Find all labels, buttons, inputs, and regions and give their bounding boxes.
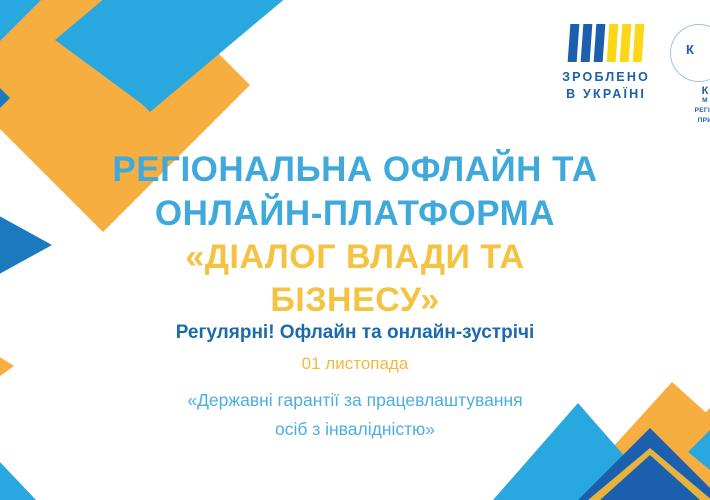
poster-date: 01 листопада [0, 354, 710, 374]
poster-topic-line1: «Державні гарантії за працевлаштування [0, 386, 710, 415]
poster-accent-line1: «ДІАЛОГ ВЛАДИ ТА [0, 236, 710, 279]
logo-bar-blue-3 [594, 24, 606, 62]
poster-title-line1: РЕГІОНАЛЬНА ОФЛАЙН ТА [0, 148, 710, 192]
partner-logo-mark: К [686, 42, 694, 57]
logo-bar-yellow-1 [607, 24, 619, 62]
partner-logo-line3: РЕГІО [666, 106, 710, 116]
made-in-ukraine-line1: ЗРОБЛЕНО [562, 69, 650, 86]
logo-bar-yellow-2 [620, 24, 632, 62]
partner-logo-line1: К [666, 86, 710, 96]
logo-bar-yellow-3 [633, 24, 645, 62]
logo-bar-blue-1 [568, 24, 580, 62]
made-in-ukraine-line2: В УКРАЇНІ [566, 86, 646, 103]
partner-logo-line4: ПРИ [666, 116, 710, 126]
logo-zone: ЗРОБЛЕНО В УКРАЇНІ К К М РЕГІО ПРИ [562, 22, 710, 132]
logo-bar-blue-2 [581, 24, 593, 62]
poster-topic-line2: осіб з інвалідністю» [0, 415, 710, 444]
poster-title: РЕГІОНАЛЬНА ОФЛАЙН ТА ОНЛАЙН-ПЛАТФОРМА [0, 148, 710, 236]
poster-title-accent: «ДІАЛОГ ВЛАДИ ТА БІЗНЕСУ» [0, 236, 710, 322]
poster-accent-line2: БІЗНЕСУ» [0, 279, 710, 322]
poster-topic: «Державні гарантії за працевлаштування о… [0, 386, 710, 444]
partner-logo-cropped: К К М РЕГІО ПРИ [664, 22, 710, 132]
partner-logo-line2: М [666, 96, 710, 106]
poster-title-line2: ОНЛАЙН-ПЛАТФОРМА [0, 192, 710, 236]
poster-subtitle-regular: Регулярні! Офлайн та онлайн-зустрічі [0, 322, 710, 344]
shape-blue-triangle-bottomleft [0, 462, 36, 500]
ukraine-flag-bars [569, 22, 643, 62]
partner-logo-text: К М РЕГІО ПРИ [666, 86, 710, 126]
made-in-ukraine-logo: ЗРОБЛЕНО В УКРАЇНІ [562, 22, 650, 103]
poster-canvas: ЗРОБЛЕНО В УКРАЇНІ К К М РЕГІО ПРИ РЕГІО… [0, 0, 710, 500]
